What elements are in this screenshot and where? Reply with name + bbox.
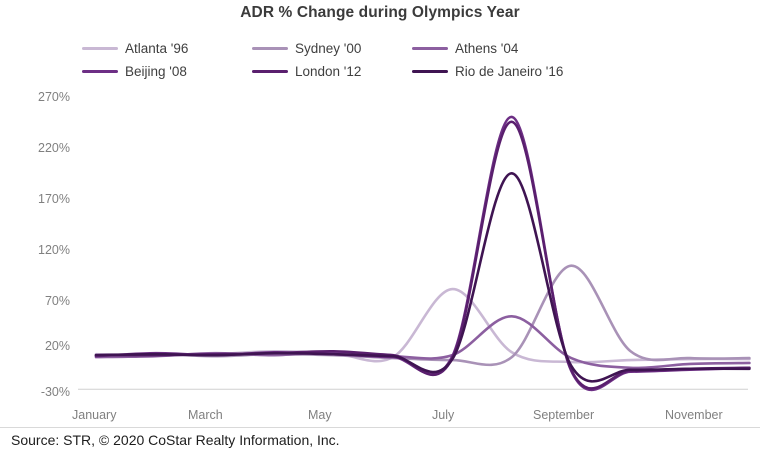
source-divider	[0, 427, 760, 428]
chart-plot-area	[0, 0, 760, 467]
series-line-london-12	[96, 122, 749, 389]
source-note: Source: STR, © 2020 CoStar Realty Inform…	[11, 432, 340, 448]
series-line-beijing-08	[96, 117, 749, 390]
series-line-atlanta-96	[96, 289, 749, 362]
chart-figure: ADR % Change during Olympics Year Atlant…	[0, 0, 760, 467]
series-line-sydney-00	[96, 266, 749, 365]
series-line-rio-de-janeiro-16	[96, 173, 749, 381]
